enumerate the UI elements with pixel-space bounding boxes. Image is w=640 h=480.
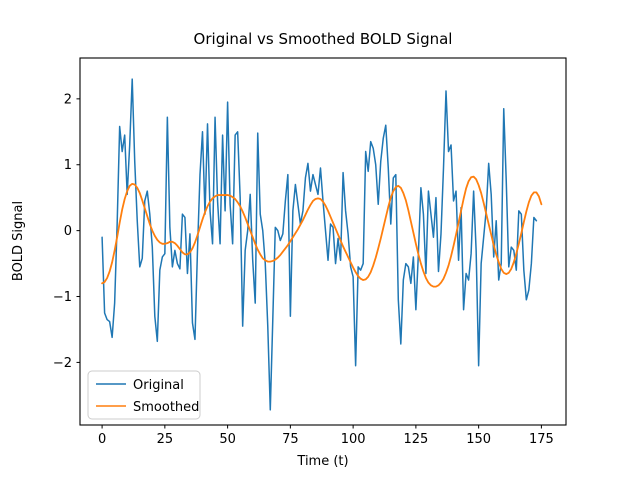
y-tick-label: 0 [64, 224, 72, 239]
matplotlib-figure: Original vs Smoothed BOLD Signal 0255075… [0, 0, 640, 480]
y-tick-label: 2 [64, 92, 72, 107]
chart-title: Original vs Smoothed BOLD Signal [194, 30, 453, 48]
x-tick-label: 25 [157, 432, 174, 447]
x-tick-label: 50 [219, 432, 236, 447]
legend-label-original: Original [133, 378, 184, 393]
legend-label-smoothed: Smoothed [133, 400, 199, 415]
y-tick-label: −2 [53, 356, 72, 371]
x-tick-label: 75 [282, 432, 299, 447]
y-tick-label: 1 [64, 158, 72, 173]
chart-legend[interactable]: Original Smoothed [88, 371, 200, 419]
x-tick-label: 125 [403, 432, 428, 447]
y-axis-label: BOLD Signal [11, 201, 26, 281]
chart-canvas: Original vs Smoothed BOLD Signal 0255075… [0, 0, 640, 480]
x-tick-label: 150 [466, 432, 491, 447]
x-tick-label: 100 [341, 432, 366, 447]
x-tick-label: 0 [98, 432, 106, 447]
x-axis-label: Time (t) [296, 454, 348, 469]
y-tick-label: −1 [53, 290, 72, 305]
x-tick-label: 175 [529, 432, 554, 447]
